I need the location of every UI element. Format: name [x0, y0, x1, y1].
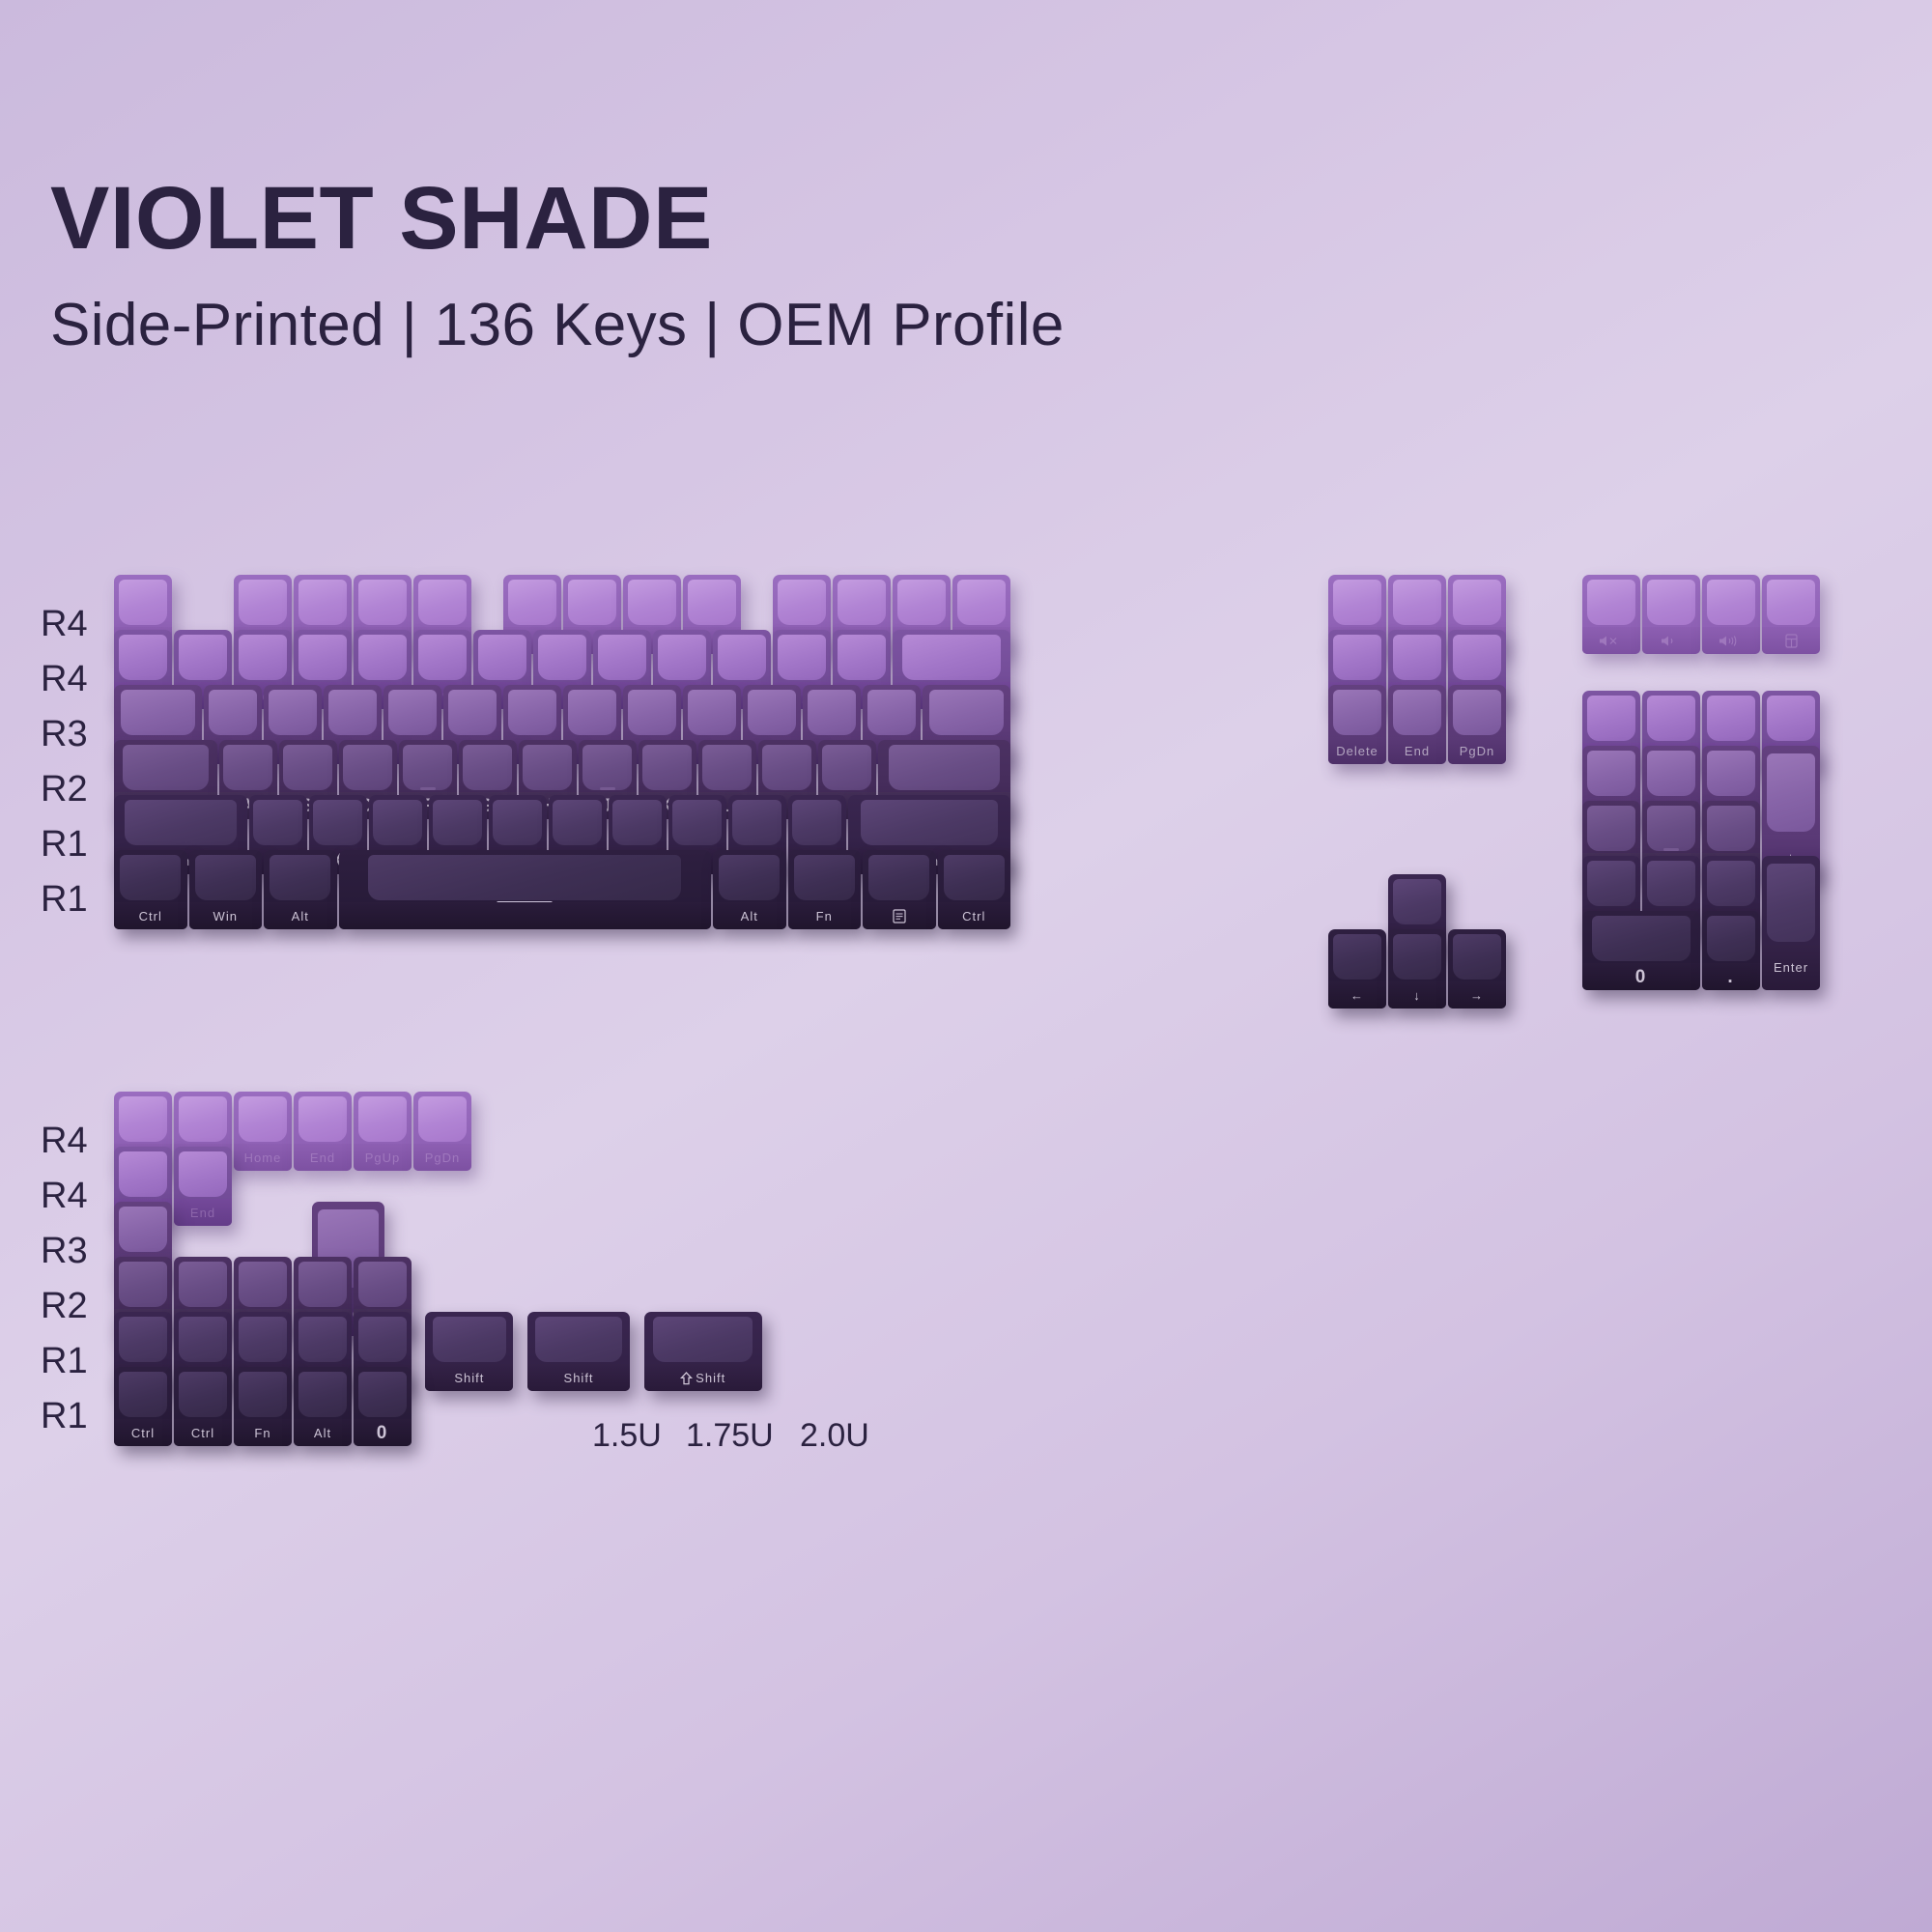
keycap-legend: Fn [816, 910, 833, 923]
keycap-front-face: Fn [788, 902, 862, 929]
keycap-top-surface [778, 635, 826, 681]
keycap-top-surface [179, 1096, 227, 1143]
keycap-front-face: Alt [264, 902, 337, 929]
keycap-top-surface [418, 1096, 467, 1143]
keycap-top-surface [553, 800, 601, 846]
keycap-top-surface [343, 745, 391, 791]
keycap-top-surface [1707, 916, 1755, 962]
keycap-top-surface [121, 690, 194, 736]
keycap-top-surface [418, 635, 467, 681]
keycap-top-surface [868, 855, 929, 901]
keycap-legend: ← [1350, 989, 1364, 1002]
keycap-end[interactable]: End [294, 1092, 352, 1171]
keycap-top-surface [270, 855, 330, 901]
keycap-top-surface [125, 800, 237, 846]
keycap-legend [893, 909, 906, 923]
row-label-r2-extras-3: R2 [41, 1286, 118, 1327]
keycap-top-surface [719, 855, 780, 901]
keycap-legend: End [1405, 745, 1430, 757]
size-label-1-75u: 1.75U [686, 1417, 774, 1455]
keycap-top-surface [195, 855, 256, 901]
keycap-top-surface [298, 635, 347, 681]
keycap-top-surface [1453, 580, 1501, 626]
keycap-top-surface [368, 855, 681, 901]
row-label-r1-main-4: R1 [41, 824, 118, 866]
keycap-top-surface [253, 800, 301, 846]
keycap-top-surface [538, 635, 586, 681]
keycap-top-surface [1587, 751, 1635, 797]
keycap-front-face: Ctrl [938, 902, 1011, 929]
keycap-top-surface [732, 800, 781, 846]
keycap-legend: Alt [741, 910, 758, 923]
keycap-legend: Alt [292, 910, 309, 923]
keycap-top-surface [748, 690, 796, 736]
keycap-legend: Shift [564, 1372, 594, 1384]
keycap-legend: Home [244, 1151, 282, 1164]
keycap-fn[interactable]: Fn [234, 1367, 292, 1446]
page-subtitle: Side-Printed | 136 Keys | OEM Profile [50, 296, 1499, 355]
keycap-top-surface [1707, 806, 1755, 852]
keycap-top-surface [179, 635, 227, 681]
keycap-front-face: End [174, 1199, 232, 1226]
keycap-top-surface [897, 580, 946, 626]
keycap-ctrl[interactable]: Ctrl [174, 1367, 232, 1446]
keycap-legend: Shift [680, 1372, 725, 1384]
keycap-legend: PgUp [365, 1151, 401, 1164]
keycap-top-surface [418, 580, 467, 626]
keycap-top-surface [358, 580, 407, 626]
keycap-front-face: Shift [425, 1364, 513, 1391]
keycap-pgdn[interactable]: PgDn [413, 1092, 471, 1171]
keycap-top-surface [239, 1262, 287, 1308]
keycap-top-surface [929, 690, 1003, 736]
keycap-top-surface [568, 580, 616, 626]
keycap-top-surface [1592, 916, 1691, 962]
row-label-r4-extras-0: R4 [41, 1121, 118, 1162]
keycap-top-surface [239, 1317, 287, 1363]
keycap-alt[interactable]: Alt [713, 850, 786, 929]
keycap-top-surface [508, 580, 556, 626]
keycap-top-surface [478, 635, 526, 681]
keycap-top-surface [1333, 635, 1381, 681]
keycap-top-surface [794, 855, 855, 901]
keycap-front-face: Win [189, 902, 263, 929]
keycap-front-face: PgUp [354, 1144, 412, 1171]
keycap-legend: Alt [314, 1427, 331, 1439]
keycap-shift[interactable]: Shift [425, 1312, 513, 1391]
keycap-top-surface [239, 1372, 287, 1418]
keycap-top-surface [902, 635, 1002, 681]
size-label-2-0u: 2.0U [800, 1417, 869, 1455]
keycap-blank[interactable]: ← [1328, 929, 1386, 1009]
keycap-top-surface [283, 745, 331, 791]
keycap-shift[interactable]: Shift [527, 1312, 631, 1391]
keycap-top-surface [1767, 753, 1815, 832]
keycap-top-surface [778, 580, 826, 626]
keycap-top-surface [838, 635, 886, 681]
keycap-top-surface [239, 635, 287, 681]
keycap-top-surface [1587, 861, 1635, 907]
keycap-top-surface [1393, 635, 1441, 681]
keycap-blank[interactable]: . [1702, 911, 1760, 990]
keycap-top-surface [568, 690, 616, 736]
keycap-top-surface [523, 745, 571, 791]
keycap-top-surface [403, 745, 451, 791]
keycap-top-surface [1647, 861, 1695, 907]
keycap-front-face: Home [234, 1144, 292, 1171]
row-label-r2-main-3: R2 [41, 769, 118, 810]
keycap-legend: PgDn [1460, 745, 1495, 757]
keycap-top-surface [1767, 580, 1815, 626]
keycap-front-face: Shift [527, 1364, 631, 1391]
row-label-r4-main-0: R4 [41, 604, 118, 645]
keycap-top-surface [179, 1372, 227, 1418]
size-label-1-5u: 1.5U [592, 1417, 662, 1455]
keycap-delete[interactable]: Delete [1328, 685, 1386, 764]
keycap-top-surface [838, 580, 886, 626]
keycap-front-face: Alt [294, 1419, 352, 1446]
keycap-volume-down-icon[interactable] [1642, 575, 1700, 654]
keycap-top-surface [120, 855, 181, 901]
keycap-legend [1785, 634, 1798, 648]
keycap-top-surface [1453, 635, 1501, 681]
keycap-front-face: End [1388, 737, 1446, 764]
keycap-legend: End [190, 1207, 215, 1219]
keycap-top-surface [1453, 690, 1501, 736]
keycap-top-surface [358, 1096, 407, 1143]
keycap-front-face: End [294, 1144, 352, 1171]
keycap-front-face: Alt [713, 902, 786, 929]
keycap-blank[interactable]: → [1448, 929, 1506, 1009]
keycap-0[interactable]: 0 [354, 1367, 412, 1446]
row-label-r4-extras-1: R4 [41, 1176, 118, 1217]
keycap-top-surface [653, 1317, 753, 1363]
keycap-front-face: Shift [644, 1364, 762, 1391]
keycap-front-face: Ctrl [174, 1419, 232, 1446]
row-label-r1-main-5: R1 [41, 879, 118, 921]
keycap-top-surface [792, 800, 840, 846]
keycap-top-surface [822, 745, 870, 791]
keycap-top-surface [944, 855, 1005, 901]
keycap-front-face: Ctrl [114, 902, 187, 929]
keycap-top-surface [762, 745, 810, 791]
keycap-top-surface [179, 1151, 227, 1198]
keycap-legend [1599, 635, 1624, 647]
keycap-top-surface [1707, 751, 1755, 797]
keycap-legend: PgDn [425, 1151, 461, 1164]
keycap-legend: Ctrl [131, 1427, 155, 1439]
keycap-top-surface [373, 800, 421, 846]
keycap-0[interactable]: 0 [1582, 911, 1700, 990]
keycap-front-face [863, 902, 936, 929]
keycap-alt[interactable]: Alt [264, 850, 337, 929]
keycap-front-face: ← [1328, 981, 1386, 1009]
keycap-top-surface [1707, 580, 1755, 626]
row-label-r1-extras-4: R1 [41, 1341, 118, 1382]
keycap-top-surface [119, 1372, 167, 1418]
keycap-top-surface [1767, 696, 1815, 742]
keycap-top-surface [1647, 806, 1695, 852]
keycap-top-surface [1707, 861, 1755, 907]
keycap-front-face [1762, 627, 1820, 654]
keycap-top-surface [493, 800, 541, 846]
keycap-top-surface [358, 1372, 407, 1418]
keycap-top-surface [119, 1317, 167, 1363]
keycap-top-surface [1587, 806, 1635, 852]
keycap-top-surface [298, 1262, 347, 1308]
homing-bump [600, 787, 615, 790]
keycap-top-surface [808, 690, 856, 736]
keycap-top-surface [119, 1207, 167, 1253]
keycap-top-surface [672, 800, 721, 846]
keycap-front-face [339, 902, 712, 929]
keycap-top-surface [119, 1151, 167, 1198]
homing-bump [1663, 848, 1679, 851]
keycap-top-surface [239, 580, 287, 626]
keycap-front-face [1702, 627, 1760, 654]
keycap-ctrl[interactable]: Ctrl [114, 850, 187, 929]
keycap-legend [1661, 635, 1682, 647]
keycap-end[interactable]: End [174, 1147, 232, 1226]
keycap-top-surface [658, 635, 706, 681]
keycap-top-surface [358, 1262, 407, 1308]
homing-bump [420, 787, 436, 790]
keycap-top-surface [1393, 879, 1441, 925]
keycap-menu-icon[interactable] [863, 850, 936, 929]
keycap-legend: 0 [377, 1424, 389, 1442]
keycap-top-surface [269, 690, 317, 736]
keycap-ctrl[interactable]: Ctrl [114, 1367, 172, 1446]
keycap-top-surface [119, 1262, 167, 1308]
keycap-top-surface [358, 1317, 407, 1363]
keycap-top-surface [1393, 934, 1441, 980]
keycap-front-face [1582, 627, 1640, 654]
keycap-top-surface [1587, 580, 1635, 626]
keycap-top-surface [1333, 934, 1381, 980]
keycap-top-surface [448, 690, 497, 736]
keycap-top-surface [1393, 690, 1441, 736]
keycap-top-surface [358, 635, 407, 681]
keycap-top-surface [1707, 696, 1755, 742]
keycap-top-surface [328, 690, 377, 736]
keycap-win[interactable]: Win [189, 850, 263, 929]
keycap-front-face: → [1448, 981, 1506, 1009]
keycap-pgup[interactable]: PgUp [354, 1092, 412, 1171]
keycap-top-surface [628, 690, 676, 736]
row-label-r3-main-2: R3 [41, 714, 118, 755]
keycap-top-surface [889, 745, 1001, 791]
keycap-volume-mute-icon[interactable] [1582, 575, 1640, 654]
keycap-top-surface [119, 580, 167, 626]
keycap-top-surface [688, 690, 736, 736]
keycap-blank[interactable] [339, 850, 712, 929]
keycap-top-surface [861, 800, 998, 846]
keycap-top-surface [1393, 580, 1441, 626]
keycap-front-face: ↓ [1388, 981, 1446, 1009]
keycap-top-surface [298, 1372, 347, 1418]
page-title: VIOLET SHADE [50, 174, 1499, 263]
keycap-top-surface [1647, 696, 1695, 742]
keycap-top-surface [313, 800, 361, 846]
keycap-front-face: Fn [234, 1419, 292, 1446]
header: VIOLET SHADE Side-Printed | 136 Keys | O… [50, 174, 1499, 355]
keycap-top-surface [119, 635, 167, 681]
keycap-front-face: 0 [354, 1419, 412, 1446]
keycap-top-surface [628, 580, 676, 626]
keycap-top-surface [179, 1317, 227, 1363]
keycap-legend: Ctrl [962, 910, 985, 923]
keycap-top-surface [867, 690, 916, 736]
keycap-legend: Shift [454, 1372, 484, 1384]
keycap-home[interactable]: Home [234, 1092, 292, 1171]
keycap-legend: Fn [254, 1427, 270, 1439]
row-label-r3-extras-2: R3 [41, 1231, 118, 1272]
keycap-top-surface [535, 1317, 621, 1363]
keycap-top-surface [388, 690, 437, 736]
keycap-top-surface [957, 580, 1006, 626]
keycap-legend: Delete [1336, 745, 1378, 757]
keycap-top-surface [1453, 934, 1501, 980]
keycap-top-surface [612, 800, 661, 846]
keycap-end[interactable]: End [1388, 685, 1446, 764]
keycap-front-face: Enter [1762, 945, 1820, 990]
keycap-top-surface [1647, 580, 1695, 626]
keycap-enter[interactable]: Enter [1762, 856, 1820, 990]
row-label-r4-main-1: R4 [41, 659, 118, 700]
keycap-top-surface [223, 745, 271, 791]
keycap-top-surface [463, 745, 511, 791]
keycap-top-surface [688, 580, 736, 626]
keycap-front-face: Ctrl [114, 1419, 172, 1446]
keycap-front-face [1642, 627, 1700, 654]
keycap-front-face: . [1702, 963, 1760, 990]
keycap-legend: . [1727, 968, 1734, 986]
shift-arrow-icon [680, 1372, 692, 1384]
keycap-top-surface [123, 745, 209, 791]
keycap-legend: Win [213, 910, 238, 923]
keycap-legend: ↓ [1413, 989, 1421, 1002]
keycap-top-surface [1647, 751, 1695, 797]
keycap-top-surface [1333, 580, 1381, 626]
keycap-front-face: 0 [1582, 963, 1700, 990]
keycap-legend: Ctrl [139, 910, 162, 923]
keycap-front-face: PgDn [413, 1144, 471, 1171]
keycap-top-surface [1587, 696, 1635, 742]
keycap-top-surface [598, 635, 646, 681]
keycap-top-surface [642, 745, 691, 791]
keycap-legend [1719, 635, 1744, 647]
keycap-alt[interactable]: Alt [294, 1367, 352, 1446]
keycap-top-surface [298, 1096, 347, 1143]
keycap-fn[interactable]: Fn [788, 850, 862, 929]
keycap-top-surface [179, 1262, 227, 1308]
keycap-blank[interactable]: ↓ [1388, 929, 1446, 1009]
keycap-top-surface [433, 800, 481, 846]
keycap-top-surface [718, 635, 766, 681]
keycap-volume-up-icon[interactable] [1702, 575, 1760, 654]
keycap-top-surface [1767, 864, 1815, 942]
keycap-legend: Enter [1774, 961, 1808, 974]
row-label-r1-extras-5: R1 [41, 1396, 118, 1437]
keycap-legend: 0 [1635, 968, 1648, 986]
keycap-legend: End [310, 1151, 335, 1164]
keycap-top-surface [508, 690, 556, 736]
keycap-pgdn[interactable]: PgDn [1448, 685, 1506, 764]
keycap-shift[interactable]: Shift [644, 1312, 762, 1391]
keycap-top-surface [1333, 690, 1381, 736]
keycap-top-surface [582, 745, 631, 791]
keycap-calculator-icon[interactable] [1762, 575, 1820, 654]
keycap-top-surface [209, 690, 257, 736]
keycap-ctrl[interactable]: Ctrl [938, 850, 1011, 929]
keycap-front-face: PgDn [1448, 737, 1506, 764]
keycap-top-surface [433, 1317, 506, 1363]
keycap-front-face: Delete [1328, 737, 1386, 764]
keycap-top-surface [702, 745, 751, 791]
keycap-legend: Ctrl [191, 1427, 214, 1439]
keycap-top-surface [239, 1096, 287, 1143]
keycap-top-surface [298, 580, 347, 626]
keycap-top-surface [298, 1317, 347, 1363]
keycap-legend: → [1470, 989, 1484, 1002]
keycap-top-surface [119, 1096, 167, 1143]
